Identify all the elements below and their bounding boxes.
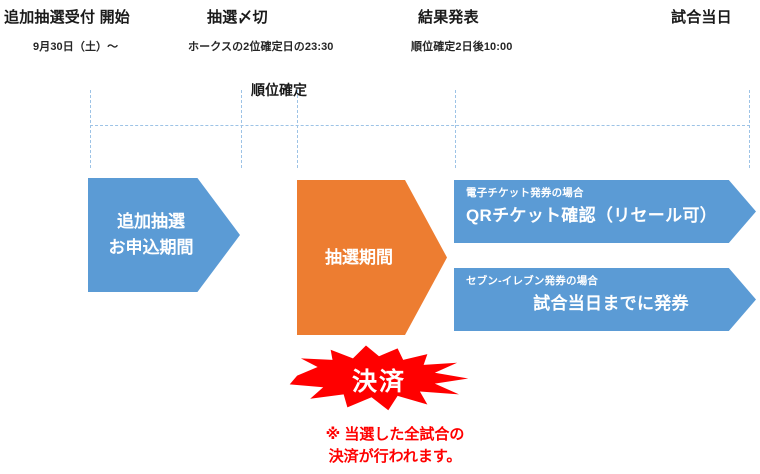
guideline-vertical-matchday — [749, 90, 750, 168]
milestone-title-deadline: 抽選〆切 — [207, 6, 268, 27]
guideline-vertical-deadline — [241, 90, 242, 168]
bar-lottery-period: 抽選期間 — [297, 180, 447, 335]
bar-seven-eleven-kicker: セブン-イレブン発券の場合 — [466, 275, 722, 288]
timeline-diagram: 追加抽選受付 開始 9月30日（土）〜 抽選〆切 ホークスの2位確定日の23:3… — [0, 0, 760, 474]
bar-qr-ticket-main: QRチケット確認（リセール可） — [466, 205, 722, 226]
milestone-sub-announcement: 順位確定2日後10:00 — [411, 38, 512, 54]
guideline-horizontal — [90, 125, 750, 126]
milestone-sub-start: 9月30日（土）〜 — [33, 38, 118, 54]
bar-qr-ticket-kicker: 電子チケット発券の場合 — [466, 187, 722, 200]
guideline-vertical-start — [90, 90, 91, 168]
milestone-title-matchday: 試合当日 — [671, 6, 732, 27]
milestone-sub-deadline: ホークスの2位確定日の23:30 — [188, 38, 334, 54]
bar-lottery-entry: 追加抽選 お申込期間 — [88, 178, 240, 292]
bar-qr-ticket: 電子チケット発券の場合 QRチケット確認（リセール可） — [454, 180, 756, 243]
guideline-vertical-rank — [297, 90, 298, 168]
payment-burst: 決済 — [286, 344, 472, 416]
bar-lottery-entry-line2: お申込期間 — [109, 235, 194, 261]
milestone-title-announcement: 結果発表 — [418, 6, 479, 27]
payment-note: ※ 当選した全試合の 決済が行われます。 — [280, 424, 510, 468]
bar-lottery-period-label: 抽選期間 — [325, 245, 393, 271]
bar-seven-eleven: セブン-イレブン発券の場合 試合当日までに発券 — [454, 268, 756, 331]
rank-confirmed-note: 順位確定 — [251, 80, 307, 100]
guideline-vertical-announcement — [455, 90, 456, 168]
bar-lottery-entry-line1: 追加抽選 — [109, 209, 194, 235]
payment-burst-label: 決済 — [286, 344, 472, 416]
bar-seven-eleven-main: 試合当日までに発券 — [466, 293, 722, 314]
milestone-title-start: 追加抽選受付 開始 — [4, 6, 130, 27]
